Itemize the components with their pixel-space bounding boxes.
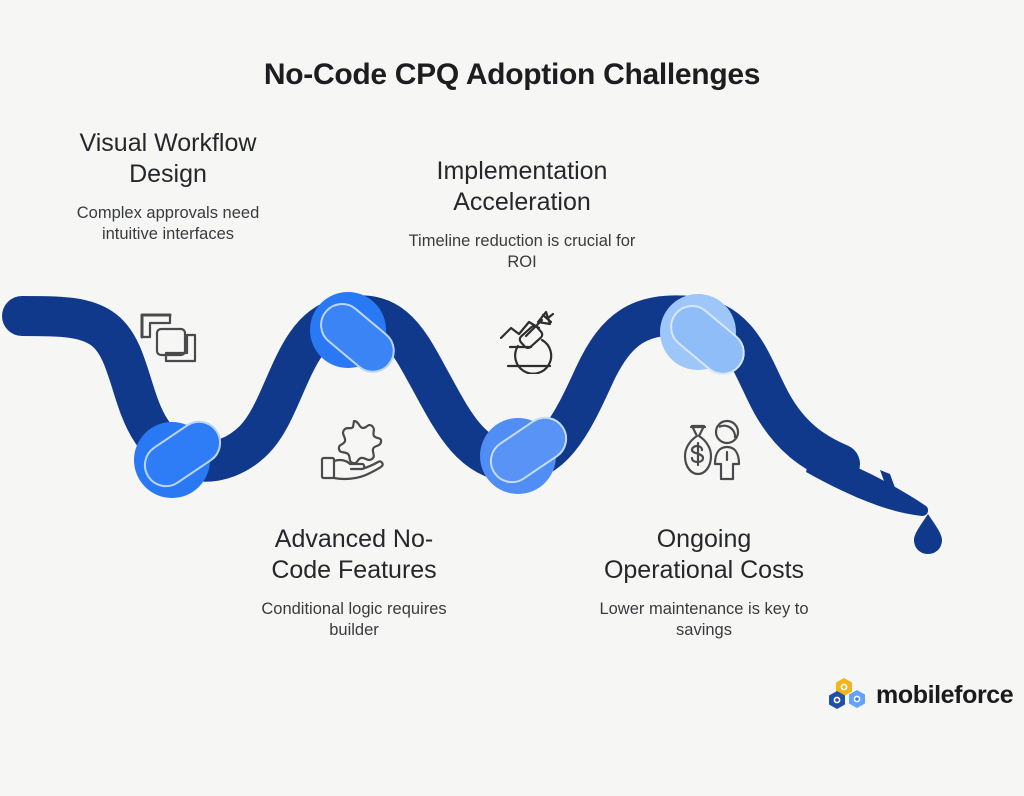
section-ongoing-operational-costs: Ongoing Operational Costs Lower maintena… <box>596 524 812 641</box>
section-title: Advanced No-Code Features <box>248 524 460 585</box>
section-advanced-no-code-features: Advanced No-Code Features Conditional lo… <box>248 524 460 641</box>
section-title: Visual Workflow Design <box>48 128 288 189</box>
microscope-growth-icon <box>498 306 564 374</box>
infographic-canvas: No-Code CPQ Adoption Challenges <box>0 0 1024 796</box>
section-title: Ongoing Operational Costs <box>596 524 812 585</box>
section-implementation-acceleration: Implementation Acceleration Timeline red… <box>404 156 640 273</box>
section-description: Timeline reduction is crucial for ROI <box>404 231 640 273</box>
stacked-squares-icon <box>133 306 205 376</box>
section-description: Conditional logic requires builder <box>248 599 460 641</box>
section-description: Lower maintenance is key to savings <box>596 599 812 641</box>
money-bag-person-icon <box>673 416 743 484</box>
section-description: Complex approvals need intuitive interfa… <box>48 203 288 245</box>
mobileforce-hexagon-mark <box>826 676 868 714</box>
section-title: Implementation Acceleration <box>404 156 640 217</box>
logo-wordmark: mobileforce <box>876 683 1013 708</box>
mobileforce-logo: mobileforce <box>826 676 1013 714</box>
section-visual-workflow-design: Visual Workflow Design Complex approvals… <box>48 128 288 245</box>
ribbon-droplet <box>914 514 942 554</box>
ribbon-tip <box>806 450 928 516</box>
hand-puzzle-icon <box>318 416 390 482</box>
